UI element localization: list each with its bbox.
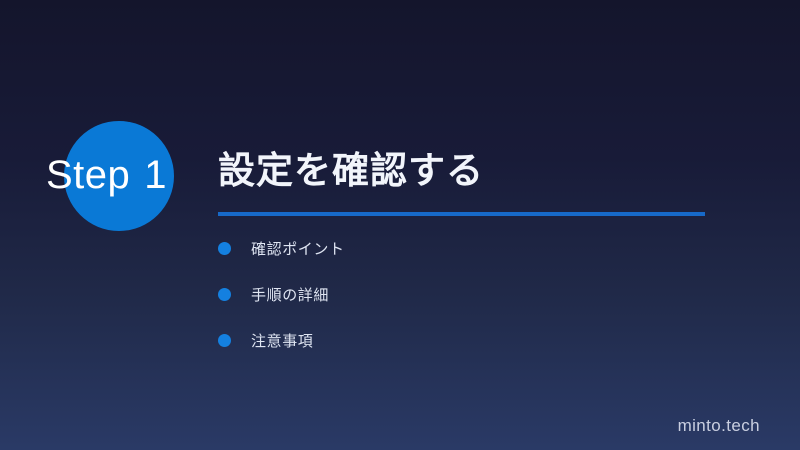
list-item-label: 手順の詳細 [251, 284, 329, 305]
list-item: 確認ポイント [218, 236, 638, 260]
step-badge-label: Step1 [46, 150, 167, 200]
bullet-dot-icon [218, 242, 231, 255]
bullet-list: 確認ポイント 手順の詳細 注意事項 [218, 236, 638, 374]
step-badge-number: 1 [144, 153, 167, 197]
bullet-dot-icon [218, 288, 231, 301]
slide-headline: 設定を確認する [218, 147, 484, 195]
list-item: 注意事項 [218, 328, 638, 352]
slide-canvas: Step1 設定を確認する 確認ポイント 手順の詳細 注意事項 minto.te… [0, 0, 800, 450]
step-badge-word: Step [46, 153, 130, 197]
footer-brand: minto.tech [678, 416, 760, 436]
list-item-label: 確認ポイント [251, 238, 345, 259]
bullet-dot-icon [218, 334, 231, 347]
list-item: 手順の詳細 [218, 282, 638, 306]
list-item-label: 注意事項 [251, 330, 313, 351]
headline-divider [218, 212, 705, 216]
